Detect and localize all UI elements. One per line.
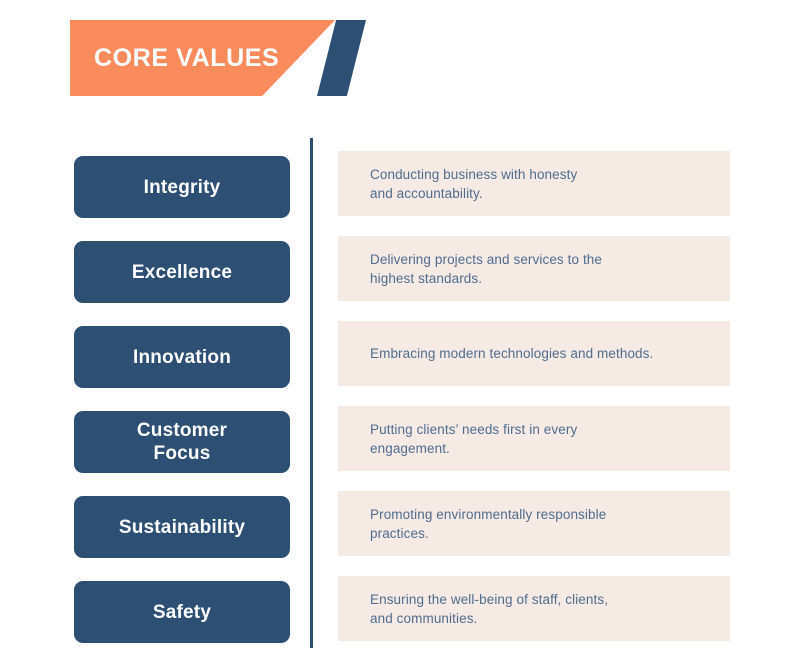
value-description-card-customer-focus: Putting clients’ needs first in every en… bbox=[338, 406, 730, 471]
value-button-customer-focus[interactable]: Customer Focus bbox=[74, 411, 290, 473]
value-description-card-safety: Ensuring the well-being of staff, client… bbox=[338, 576, 730, 641]
value-description-text: Embracing modern technologies and method… bbox=[370, 344, 653, 363]
value-button-excellence[interactable]: Excellence bbox=[74, 241, 290, 303]
value-description-card-innovation: Embracing modern technologies and method… bbox=[338, 321, 730, 386]
value-description-card-sustainability: Promoting environmentally responsible pr… bbox=[338, 491, 730, 556]
value-description-text: Ensuring the well-being of staff, client… bbox=[370, 590, 608, 628]
value-button-innovation[interactable]: Innovation bbox=[74, 326, 290, 388]
value-description-text: Delivering projects and services to the … bbox=[370, 250, 602, 288]
value-button-safety[interactable]: Safety bbox=[74, 581, 290, 643]
value-button-integrity[interactable]: Integrity bbox=[74, 156, 290, 218]
values-list: Integrity Conducting business with hones… bbox=[0, 0, 790, 659]
value-button-sustainability[interactable]: Sustainability bbox=[74, 496, 290, 558]
value-description-card-excellence: Delivering projects and services to the … bbox=[338, 236, 730, 301]
value-description-text: Promoting environmentally responsible pr… bbox=[370, 505, 606, 543]
value-description-text: Conducting business with honesty and acc… bbox=[370, 165, 577, 203]
value-description-card-integrity: Conducting business with honesty and acc… bbox=[338, 151, 730, 216]
core-values-page: CORE VALUES Integrity Conducting busines… bbox=[0, 0, 790, 659]
value-description-text: Putting clients’ needs first in every en… bbox=[370, 420, 577, 458]
